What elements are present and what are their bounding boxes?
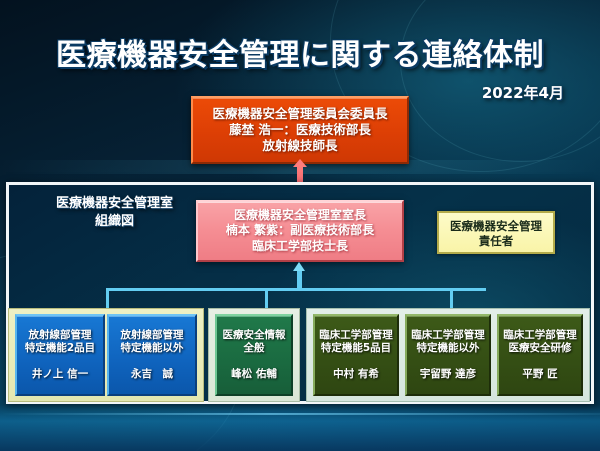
up-arrow-icon [297,270,302,290]
member-role-line1: 臨床工学部管理 [317,329,395,343]
slide-canvas: 医療機器安全管理に関する連絡体制 2022年4月 医療機器安全管理委員会委員長 … [0,0,600,451]
member-role-line1: 医療安全情報 [219,329,289,343]
member-box: 臨床工学部管理 特定機能以外 宇留野 達彦 [405,314,491,396]
member-role-line2: 特定機能5品目 [317,342,395,356]
office-chief-box: 医療機器安全管理室室長 楠本 繁紫：副医療技術部長 臨床工学部技士長 [196,200,404,262]
office-chief-title: 医療機器安全管理室室長 [198,208,402,223]
member-person: 中村 有希 [317,368,395,382]
committee-chair-box: 医療機器安全管理委員会委員長 藤埜 浩一：医療技術部長 放射線技師長 [191,96,409,164]
member-role-line2: 特定機能以外 [111,342,193,356]
member-role-line2: 特定機能2品目 [19,342,101,356]
group-clinical-engineering: 臨床工学部管理 特定機能5品目 中村 有希 臨床工学部管理 特定機能以外 宇留野… [306,308,590,402]
member-role-line1: 放射線部管理 [111,329,193,343]
background-swirl-2 [400,0,600,162]
member-person: 宇留野 達彦 [409,368,487,382]
member-role-line1: 臨床工学部管理 [409,329,487,343]
group-safety-info: 医療安全情報 全般 峰松 佑輔 [208,308,300,402]
bottom-glow [0,405,600,451]
slide-date: 2022年4月 [482,82,564,103]
group-radiology: 放射線部管理 特定機能2品目 井ノ上 信一 放射線部管理 特定機能以外 永吉 誠 [8,308,204,402]
member-person: 峰松 佑輔 [219,368,289,382]
safety-manager-line1: 医療機器安全管理 [439,219,553,234]
org-chart-panel-label: 医療機器安全管理室 組織図 [27,195,202,231]
safety-manager-line2: 責任者 [439,234,553,249]
member-role-line2: 医療安全研修 [501,342,579,356]
member-role-line1: 放射線部管理 [19,329,101,343]
member-role-line2: 全般 [219,342,289,356]
member-person: 永吉 誠 [111,368,193,382]
connector-vertical-radiology [106,288,109,310]
member-box: 放射線部管理 特定機能2品目 井ノ上 信一 [15,314,105,396]
member-box: 臨床工学部管理 医療安全研修 平野 匠 [497,314,583,396]
connector-vertical-clinical-eng [450,288,453,310]
connector-vertical-safety-info [265,288,268,310]
member-box: 臨床工学部管理 特定機能5品目 中村 有希 [313,314,399,396]
member-box: 放射線部管理 特定機能以外 永吉 誠 [107,314,197,396]
safety-manager-box: 医療機器安全管理 責任者 [437,211,555,254]
committee-chair-role: 放射線技師長 [193,138,407,154]
member-person: 平野 匠 [501,368,579,382]
slide-title: 医療機器安全管理に関する連絡体制 [0,30,600,74]
committee-chair-name: 藤埜 浩一：医療技術部長 [193,122,407,138]
connector-horizontal [106,288,486,291]
member-role-line2: 特定機能以外 [409,342,487,356]
committee-chair-title: 医療機器安全管理委員会委員長 [193,106,407,122]
member-role-line1: 臨床工学部管理 [501,329,579,343]
office-chief-role: 臨床工学部技士長 [198,239,402,254]
office-chief-name: 楠本 繁紫：副医療技術部長 [198,223,402,238]
panel-label-line2: 組織図 [27,213,202,231]
panel-label-line1: 医療機器安全管理室 [27,195,202,213]
member-box: 医療安全情報 全般 峰松 佑輔 [215,314,293,396]
member-person: 井ノ上 信一 [19,368,101,382]
